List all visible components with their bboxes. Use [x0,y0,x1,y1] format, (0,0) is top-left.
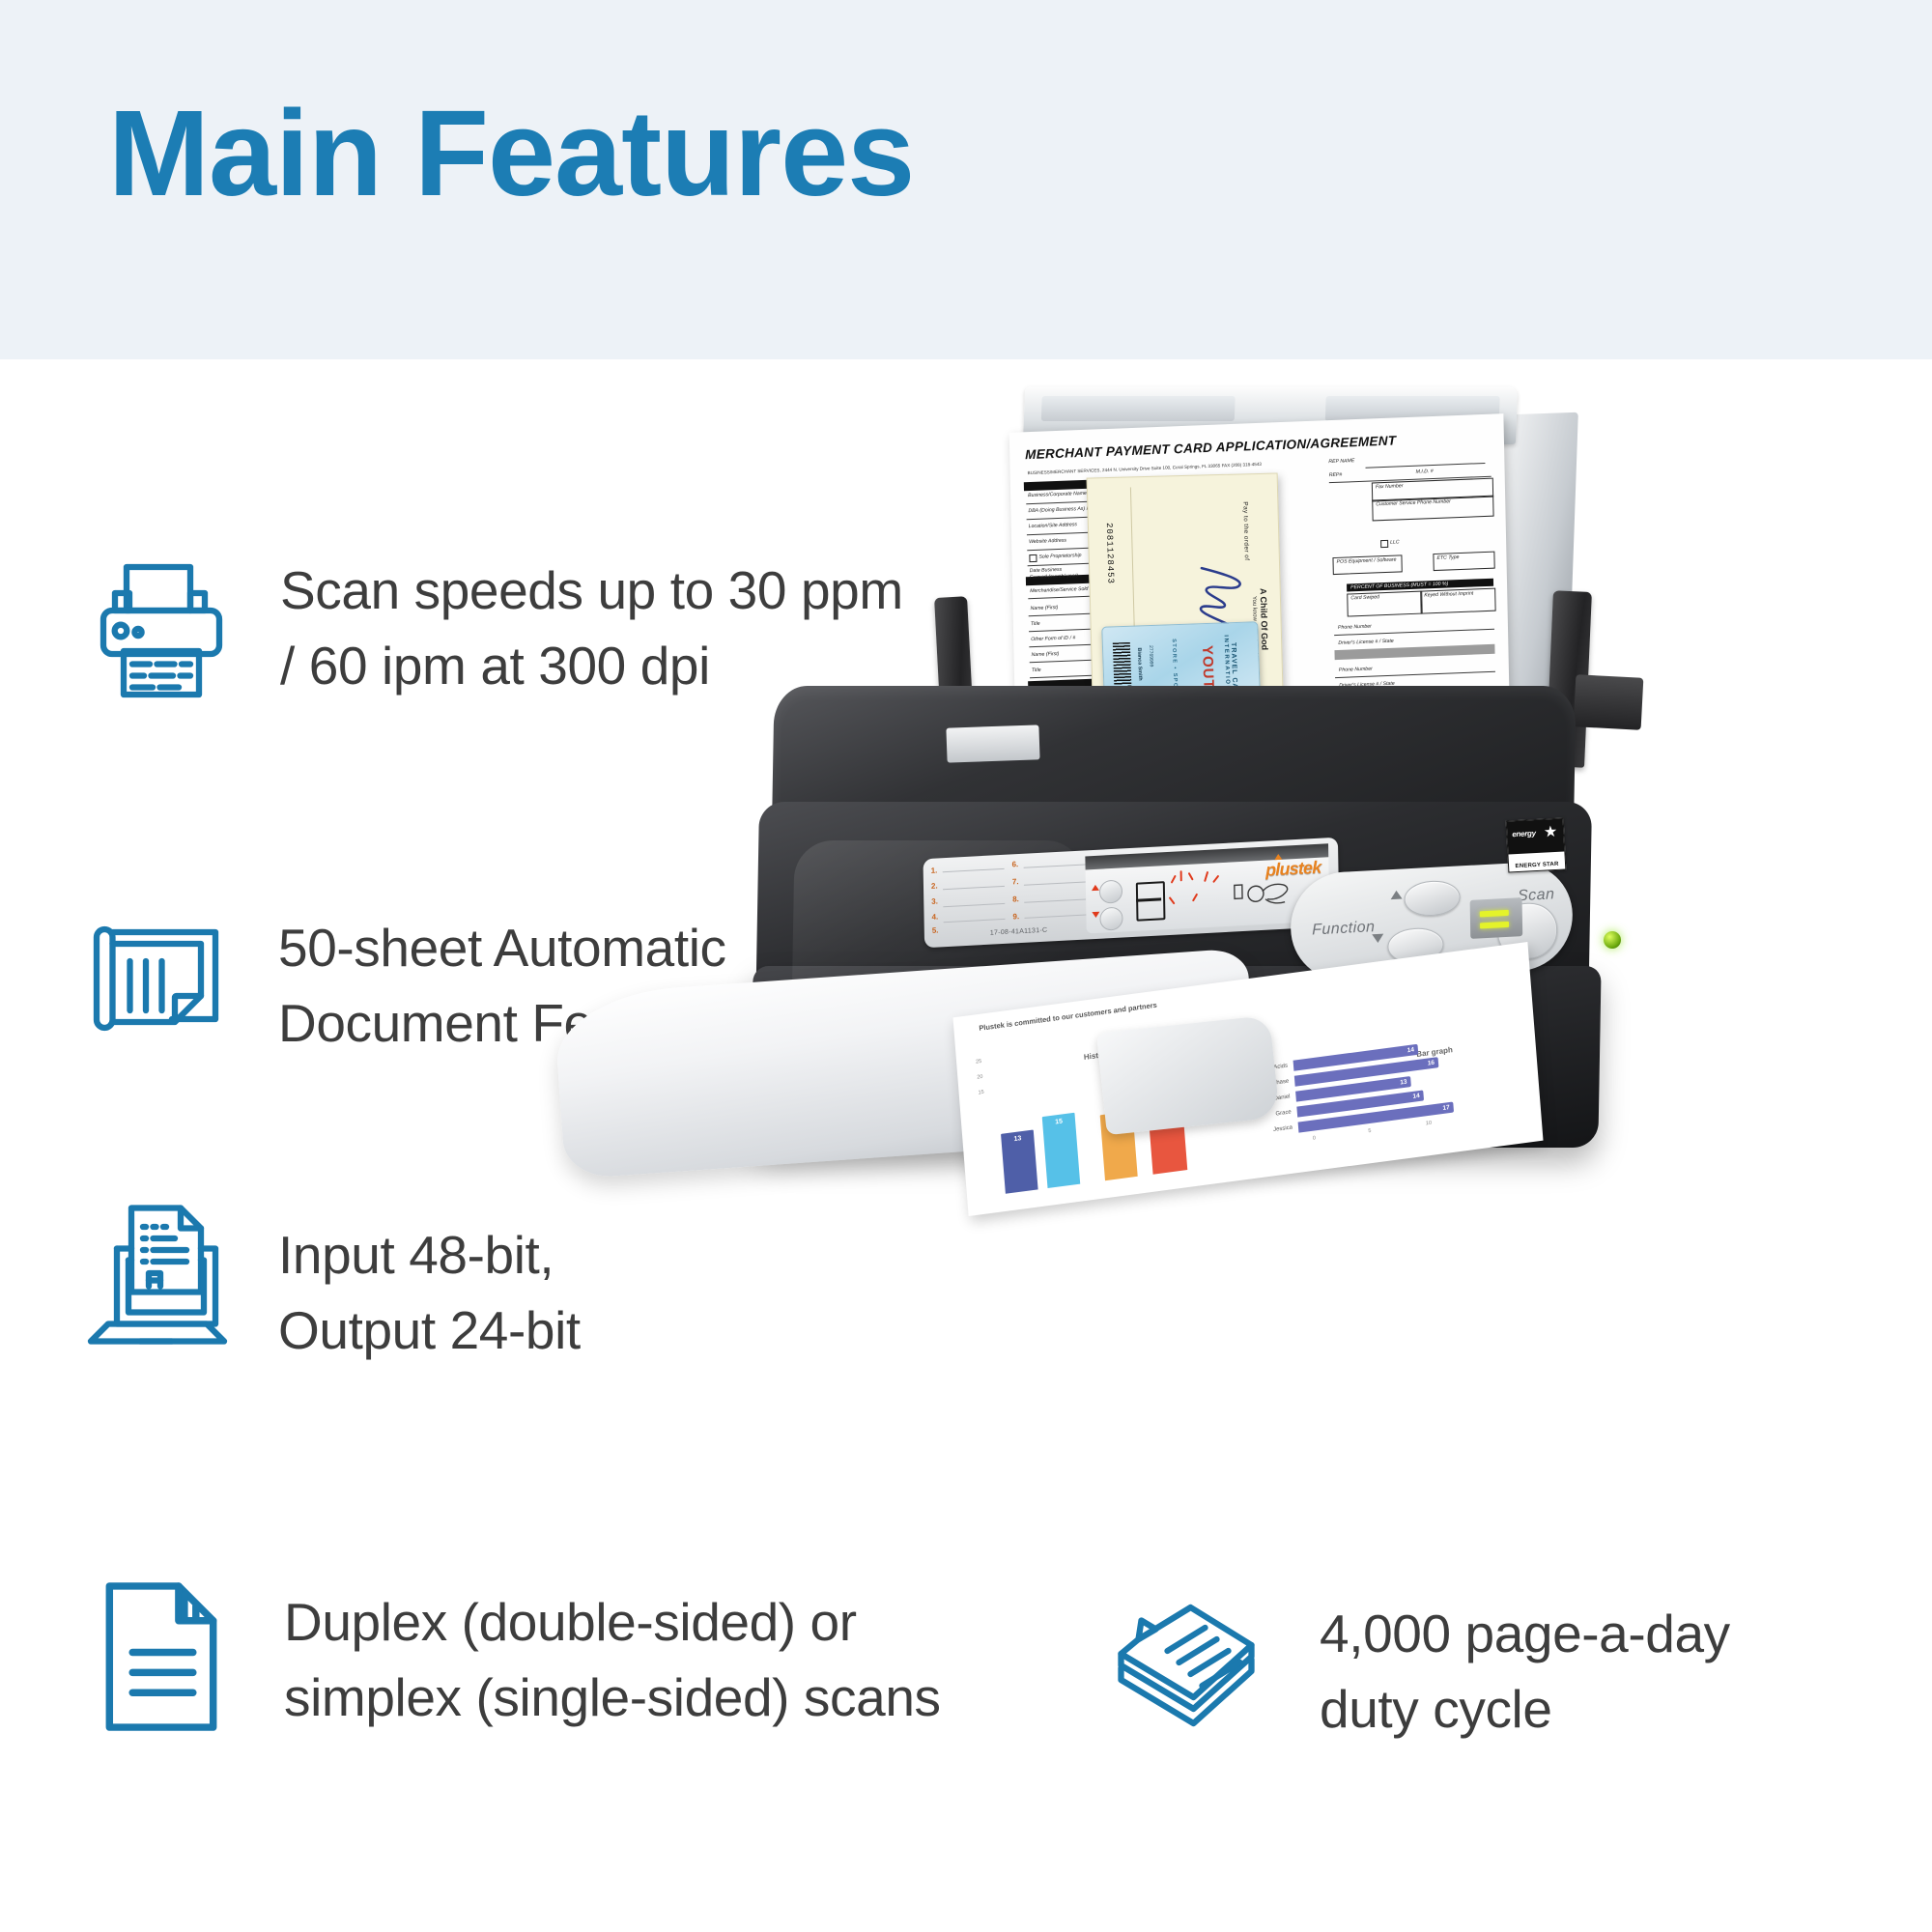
check-payee-line: Pay to the order of [1241,501,1250,560]
bargraph-plot: Acids Chase Daniel Grace Jessica 14 16 1… [1247,1028,1533,1171]
seven-segment-display-icon [1136,881,1166,922]
document-page-icon [89,1575,234,1739]
decal-num-2: 2. [931,881,938,890]
decal-num-6: 6. [1011,860,1018,868]
press-button-hand-icon [1231,874,1292,916]
laptop-scan-icon [85,1196,230,1350]
feature-item-duplex: Duplex (double-sided) or simplex (single… [89,1575,941,1739]
energy-star-mark: energy [1512,829,1536,838]
decal-num-4: 4. [931,912,938,921]
star-icon: ★ [1544,825,1558,841]
decal-num-5: 5. [932,925,939,934]
decal-num-9: 9. [1012,912,1019,921]
document-feeder-icon [85,906,230,1051]
power-status-led [1604,931,1621,949]
product-image-scanner: MERCHANT PAYMENT CARD APPLICATION/AGREEM… [599,386,1855,1179]
scanner-printer-icon [89,558,234,703]
id-card-holder: Bianca Smith [1136,647,1143,680]
feature-label-color-depth: Input 48-bit, Output 24-bit [278,1217,581,1368]
page-title: Main Features [108,93,914,214]
check-micr-line: 2081128453 [1104,523,1116,584]
output-tray-lip [1096,1015,1280,1135]
chevron-down-icon [1372,934,1383,944]
feature-item-color-depth: Input 48-bit, Output 24-bit [85,1196,581,1368]
decal-service-code: 17-08-41A1131-C [990,927,1048,937]
chevron-up-icon [1390,891,1402,900]
energy-star-caption: ENERGY STAR [1509,861,1565,869]
decal-num-8: 8. [1012,895,1019,903]
decal-num-7: 7. [1012,877,1019,886]
function-label: Function [1312,919,1376,939]
paper-stop-tab [946,724,1039,762]
feature-item-duty-cycle: 4,000 page-a-day duty cycle [1109,1584,1730,1747]
function-up-button[interactable] [1404,879,1461,917]
decal-num-3: 3. [931,896,938,905]
decal-num-1: 1. [931,866,938,874]
feature-label-duplex: Duplex (double-sided) or simplex (single… [284,1584,941,1735]
adf-right-guide-base [1574,674,1644,730]
id-card-number: 27769999 [1148,645,1154,667]
decal-button-down [1099,906,1122,930]
function-number-display [1470,897,1523,939]
decal-button-up [1099,879,1122,903]
header-band: Main Features [0,0,1932,359]
feature-label-duty-cycle: 4,000 page-a-day duty cycle [1320,1596,1730,1747]
paper-stack-icon [1109,1584,1264,1729]
energy-star-badge: energy ★ ENERGY STAR [1506,817,1567,872]
